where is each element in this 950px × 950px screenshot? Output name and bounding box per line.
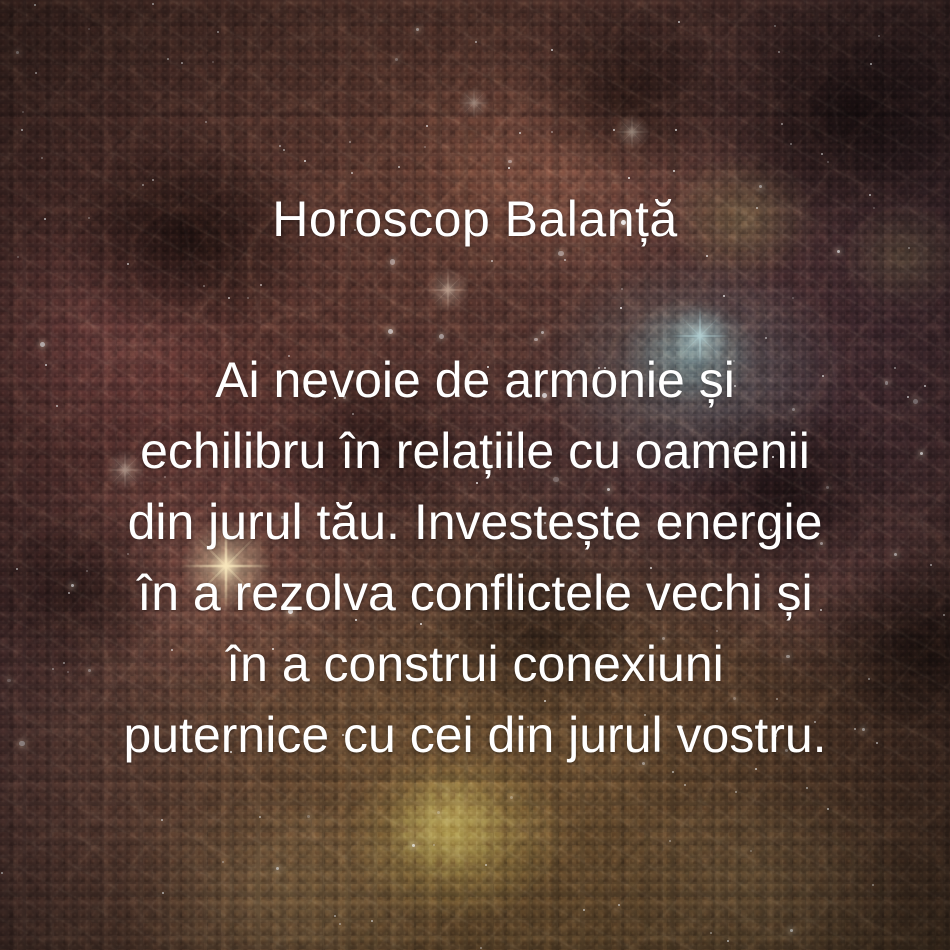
body-line: puternice cu cei din jurul vostru. [55, 700, 895, 771]
body-line: din jurul tău. Investește energie [55, 487, 895, 558]
body-line: Ai nevoie de armonie și [55, 345, 895, 416]
body-line: în a rezolva conflictele vechi și [55, 558, 895, 629]
card-title: Horoscop Balanță [0, 192, 950, 247]
body-line: în a construi conexiuni [55, 629, 895, 700]
card-text-block: Horoscop Balanță Ai nevoie de armonie și… [0, 0, 950, 950]
horoscope-card: Horoscop Balanță Ai nevoie de armonie și… [0, 0, 950, 950]
card-body-text: Ai nevoie de armonie șiechilibru în rela… [55, 345, 895, 771]
body-line: echilibru în relațiile cu oamenii [55, 416, 895, 487]
